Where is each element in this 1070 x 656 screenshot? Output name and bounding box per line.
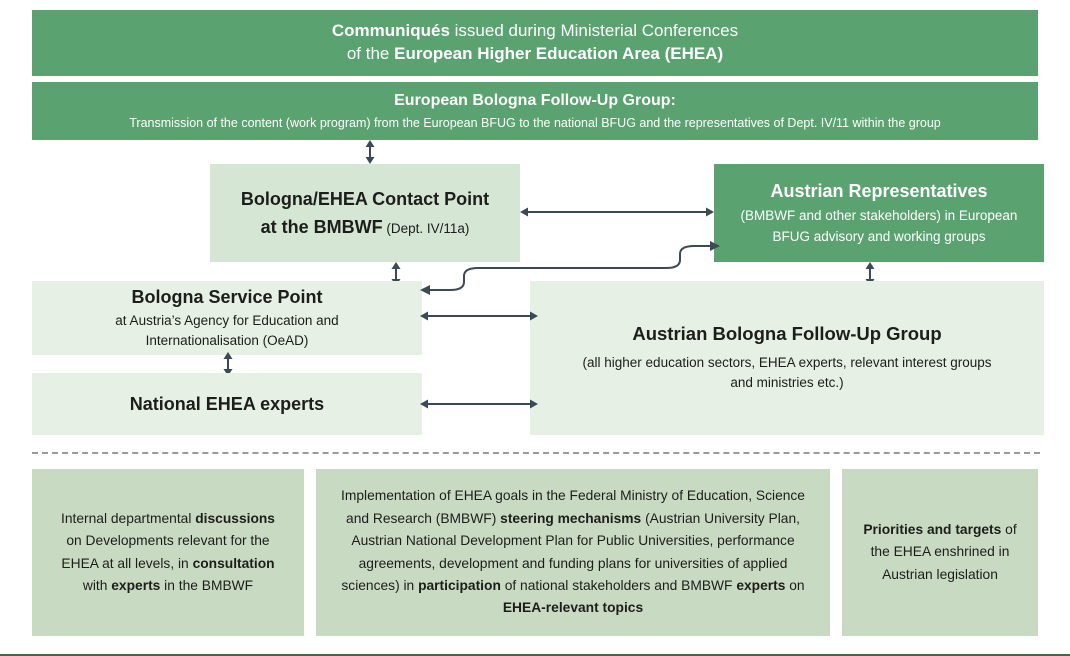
arrow-contact-point-to-representatives (520, 203, 714, 221)
text-segment: Internal departmental (61, 511, 195, 526)
bottom-box-internal-discussions: Internal departmental discussions on Dev… (32, 469, 304, 636)
text-segment: steering mechanisms (500, 511, 641, 526)
text-segment: experts (111, 578, 160, 593)
arrow-service-point-to-austrian-bfug (420, 307, 538, 325)
national-ehea-experts: National EHEA experts (32, 373, 422, 435)
bottom-box-implementation: Implementation of EHEA goals in the Fede… (316, 469, 830, 636)
contact-point-dept: (Dept. IV/11a) (383, 221, 470, 236)
communiques-line-2: of the European Higher Education Area (E… (347, 43, 723, 66)
service-point-sub-1: at Austria’s Agency for Education and (115, 311, 338, 331)
european-bfug-title: European Bologna Follow-Up Group: (394, 90, 676, 112)
austrian-bfug-sub-2: and ministries etc.) (730, 373, 843, 393)
austrian-representatives-sub-1: (BMBWF and other stakeholders) in Europe… (741, 206, 1018, 226)
text-segment: discussions (195, 511, 275, 526)
european-bfug-banner: European Bologna Follow-Up Group: Transm… (32, 82, 1038, 140)
service-point-title: Bologna Service Point (131, 285, 322, 309)
communiques-line2-bold: European Higher Education Area (EHEA) (394, 44, 723, 63)
national-experts-title: National EHEA experts (130, 392, 324, 416)
austrian-representatives-sub-2: BFUG advisory and working groups (772, 227, 985, 247)
bottom-box-priorities: Priorities and targets of the EHEA enshr… (842, 469, 1038, 636)
contact-point-line-2: at the BMBWF (Dept. IV/11a) (261, 215, 470, 239)
communiques-banner: Communiqués issued during Ministerial Co… (32, 10, 1038, 76)
text-segment: on (785, 578, 804, 593)
bottom-box-text-1: Implementation of EHEA goals in the Fede… (332, 485, 814, 619)
communiques-rest: issued during Ministerial Conferences (450, 21, 738, 40)
diagram-canvas: Communiqués issued during Ministerial Co… (0, 0, 1070, 656)
austrian-bologna-follow-up-group: Austrian Bologna Follow-Up Group (all hi… (530, 281, 1044, 435)
text-segment: experts (736, 578, 785, 593)
austrian-bfug-title: Austrian Bologna Follow-Up Group (632, 322, 941, 347)
bologna-service-point: Bologna Service Point at Austria’s Agenc… (32, 281, 422, 355)
austrian-representatives-title: Austrian Representatives (770, 179, 987, 203)
communiques-line-1: Communiqués issued during Ministerial Co… (332, 20, 738, 43)
austrian-bfug-sub-1: (all higher education sectors, EHEA expe… (583, 353, 992, 373)
bottom-box-text-0: Internal departmental discussions on Dev… (54, 508, 282, 597)
bottom-box-text-2: Priorities and targets of the EHEA enshr… (860, 519, 1020, 586)
text-segment: consultation (193, 556, 275, 571)
communiques-bold: Communiqués (332, 21, 450, 40)
text-segment: Priorities and targets (863, 522, 1001, 537)
arrow-bfug-to-contact-point (361, 140, 379, 164)
contact-point-line-1: Bologna/EHEA Contact Point (241, 187, 489, 211)
arrow-service-point-to-representatives-curved (414, 240, 720, 296)
communiques-line2-thin: of the (347, 44, 394, 63)
european-bfug-subtitle: Transmission of the content (work progra… (129, 114, 941, 132)
arrow-national-experts-to-austrian-bfug (420, 395, 538, 413)
austrian-representatives: Austrian Representatives (BMBWF and othe… (714, 164, 1044, 262)
text-segment: with (83, 578, 111, 593)
service-point-sub-2: Internationalisation (OeAD) (146, 331, 309, 351)
contact-point-line2-bold: at the BMBWF (261, 217, 383, 237)
text-segment: EHEA-relevant topics (503, 600, 643, 615)
text-segment: in the BMBWF (160, 578, 253, 593)
section-separator (32, 452, 1040, 454)
text-segment: of national stakeholders and BMBWF (501, 578, 736, 593)
text-segment: participation (418, 578, 501, 593)
